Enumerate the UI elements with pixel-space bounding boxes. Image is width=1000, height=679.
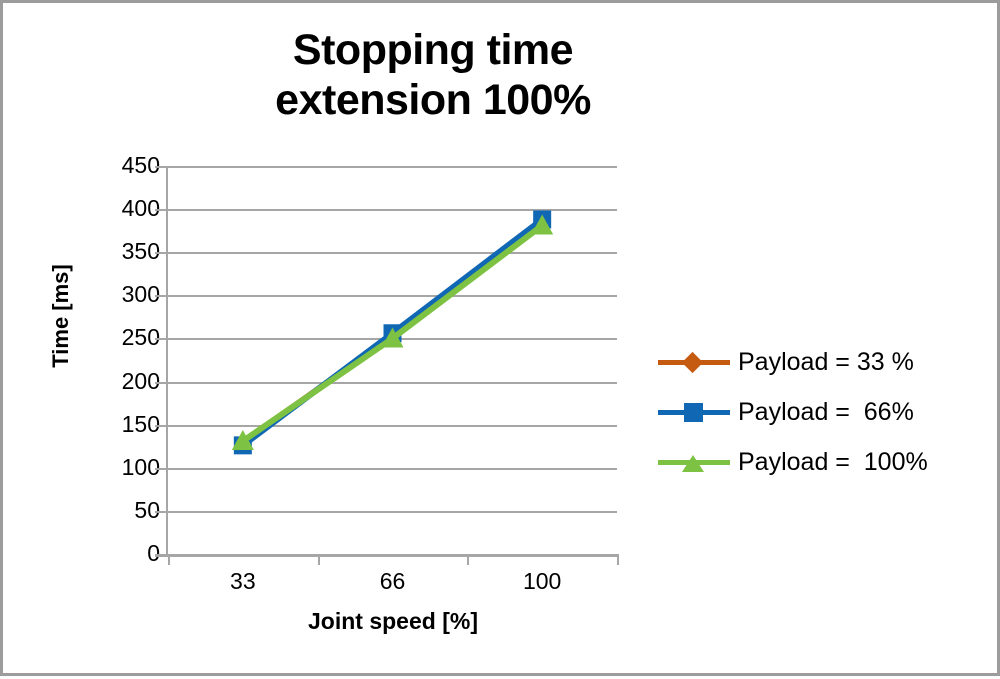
chart-legend: Payload = 33 %Payload = 66%Payload = 100…	[658, 337, 988, 487]
gridline	[168, 511, 617, 513]
y-axis-tick-label: 300	[100, 283, 160, 306]
legend-label: Payload = 33 %	[738, 348, 914, 377]
chart-title: Stopping time extension 100%	[153, 25, 713, 125]
y-axis-tick	[155, 511, 167, 513]
y-axis-tick	[155, 295, 167, 297]
x-axis-tick	[318, 554, 320, 565]
plot-area	[168, 166, 617, 554]
y-axis-tick	[155, 425, 167, 427]
y-axis-tick-label: 50	[100, 499, 160, 522]
x-axis-title: Joint speed [%]	[168, 608, 618, 635]
y-axis-tick-label: 350	[100, 240, 160, 263]
y-axis-tick-label: 150	[100, 413, 160, 436]
legend-item[interactable]: Payload = 33 %	[658, 337, 988, 387]
y-axis-tick-label: 400	[100, 197, 160, 220]
x-axis-tick	[467, 554, 469, 565]
legend-triangle-icon	[682, 455, 704, 472]
x-axis-tick	[617, 554, 619, 565]
chart-title-line1: Stopping time	[293, 26, 573, 74]
gridline	[168, 425, 617, 427]
x-axis-tick-label: 100	[502, 568, 582, 595]
x-axis-line	[155, 554, 617, 557]
gridline	[168, 252, 617, 254]
y-axis-tick	[155, 252, 167, 254]
legend-square-icon	[684, 403, 703, 422]
gridline	[168, 209, 617, 211]
y-axis-tick	[155, 468, 167, 470]
legend-swatch	[658, 399, 730, 425]
y-axis-line	[166, 166, 168, 556]
x-axis-tick-label: 66	[353, 568, 433, 595]
y-axis-tick	[155, 338, 167, 340]
y-axis-tick-label: 250	[100, 326, 160, 349]
y-axis-tick-label: 0	[100, 542, 160, 565]
legend-item[interactable]: Payload = 100%	[658, 437, 988, 487]
legend-item[interactable]: Payload = 66%	[658, 387, 988, 437]
y-axis-tick	[155, 166, 167, 168]
legend-swatch	[658, 449, 730, 475]
chart-canvas: Stopping time extension 100% Time [ms] 4…	[3, 3, 1000, 679]
y-axis-tick-labels: 450400350300250200150100500	[98, 3, 160, 679]
legend-diamond-icon	[682, 352, 703, 373]
y-axis-tick	[155, 209, 167, 211]
gridline	[168, 338, 617, 340]
y-axis-tick	[155, 554, 167, 556]
legend-label: Payload = 100%	[738, 448, 928, 477]
gridline	[168, 468, 617, 470]
gridline	[168, 382, 617, 384]
y-axis-tick	[155, 382, 167, 384]
y-axis-title: Time [ms]	[48, 236, 74, 396]
x-axis-tick-label: 33	[203, 568, 283, 595]
x-axis-tick	[168, 554, 170, 565]
legend-label: Payload = 66%	[738, 398, 914, 427]
y-axis-tick-label: 450	[100, 154, 160, 177]
gridline	[168, 166, 617, 168]
chart-frame: Stopping time extension 100% Time [ms] 4…	[0, 0, 1000, 676]
gridline	[168, 295, 617, 297]
y-axis-tick-label: 100	[100, 456, 160, 479]
chart-title-line2: extension 100%	[153, 75, 713, 125]
legend-swatch	[658, 349, 730, 375]
y-axis-tick-label: 200	[100, 370, 160, 393]
